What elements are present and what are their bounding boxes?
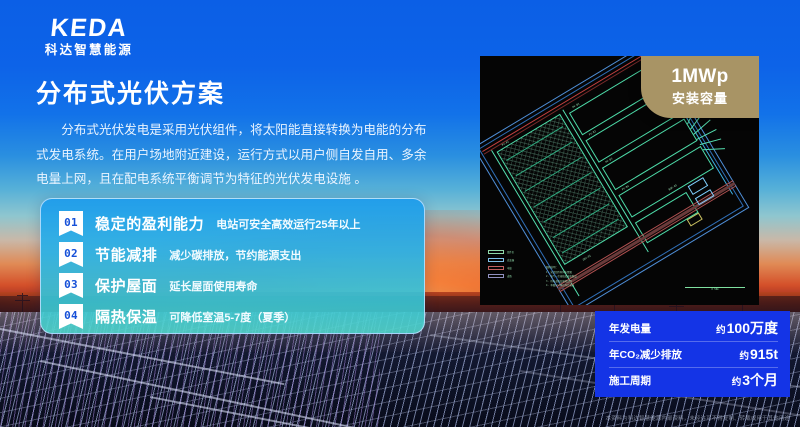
metric-number: 915t: [750, 346, 778, 362]
metric-label: 年CO₂减少排放: [609, 347, 739, 362]
cad-legend-swatch-icon: [488, 266, 504, 270]
cad-legend-item: 电缆: [488, 265, 534, 270]
cad-legend-item: 组件区: [488, 249, 534, 254]
cad-legend-label: 逆变器: [507, 258, 514, 262]
brand-logo: KEDA 科达智慧能源: [24, 16, 154, 57]
number-badge-icon: 02: [59, 242, 83, 267]
feature-description: 减少碳排放，节约能源支出: [169, 247, 301, 263]
metric-value: 约100万度: [716, 318, 778, 338]
cad-legend-label: 道路: [507, 274, 512, 278]
metric-label: 年发电量: [609, 321, 716, 336]
cad-note-line: 4. 本图尺寸单位均为毫米: [546, 284, 577, 289]
feature-item: 02 节能减排 减少碳排放，节约能源支出: [41, 239, 424, 270]
slide-canvas: KEDA 科达智慧能源 分布式光伏方案 分布式光伏发电是采用光伏组件，将太阳能直…: [0, 0, 800, 427]
metric-approx: 约: [732, 377, 742, 388]
feature-title: 保护屋面: [95, 275, 157, 296]
feature-title: 节能减排: [95, 244, 157, 265]
cad-legend-swatch-icon: [488, 250, 504, 254]
intro-paragraph: 分布式光伏发电是采用光伏组件，将太阳能直接转换为电能的分布式发电系统。在用户场地…: [36, 118, 436, 192]
feature-title: 稳定的盈利能力: [95, 213, 204, 234]
metric-approx: 约: [739, 351, 749, 362]
metric-row: 施工周期 约3个月: [595, 367, 790, 393]
cad-legend-swatch-icon: [488, 274, 504, 278]
capacity-value: 1MWp: [671, 67, 728, 87]
cad-legend-label: 电缆: [507, 266, 512, 270]
cad-legend-label: 组件区: [507, 250, 514, 254]
feature-number: 02: [64, 247, 78, 260]
metric-row: 年发电量 约100万度: [595, 315, 790, 341]
page-title: 分布式光伏方案: [36, 74, 225, 110]
number-badge-icon: 03: [59, 273, 83, 298]
feature-item: 01 稳定的盈利能力 电站可安全高效运行25年以上: [41, 208, 424, 239]
capacity-label: 安装容量: [672, 88, 728, 107]
feature-description: 电站可安全高效运行25年以上: [216, 216, 360, 232]
number-badge-icon: 04: [59, 304, 83, 329]
metric-number: 100万度: [727, 320, 778, 336]
cad-legend-swatch-icon: [488, 258, 504, 262]
feature-item: 03 保护屋面 延长屋面使用寿命: [41, 270, 424, 301]
metric-row: 年CO₂减少排放 约915t: [595, 341, 790, 367]
capacity-badge: 1MWp 安装容量: [641, 56, 759, 118]
feature-number: 04: [64, 309, 78, 322]
cad-legend: 组件区 逆变器 电缆 道路: [488, 249, 534, 281]
footer-disclaimer: 本资料为科达智慧能源内部资料，未经许可不得复制、转载或用于其他用途: [606, 414, 791, 422]
cad-notes-block: 图例说明： 1. 光伏组件阵列布置图 2. 电气一次接线及电缆敷设 3. 场内道…: [546, 266, 577, 289]
cad-scale-label: 0 50m: [685, 288, 745, 291]
logo-wordmark: KEDA: [23, 16, 156, 41]
feature-number: 01: [64, 216, 78, 229]
feature-list-panel: 01 稳定的盈利能力 电站可安全高效运行25年以上 02 节能减排 减少碳排放，…: [40, 198, 425, 334]
cad-scale-bar: 0 50m: [685, 287, 745, 291]
cad-legend-item: 道路: [488, 273, 534, 278]
metric-value: 约915t: [739, 346, 778, 362]
feature-description: 可降低室温5-7度（夏季）: [169, 309, 295, 325]
cad-legend-item: 逆变器: [488, 257, 534, 262]
feature-item: 04 隔热保温 可降低室温5-7度（夏季）: [41, 301, 424, 332]
key-metrics-panel: 年发电量 约100万度 年CO₂减少排放 约915t 施工周期 约3个月: [595, 311, 790, 397]
logo-subtitle: 科达智慧能源: [24, 44, 154, 57]
metric-value: 约3个月: [732, 370, 778, 390]
feature-description: 延长屋面使用寿命: [169, 278, 257, 294]
metric-label: 施工周期: [609, 373, 732, 388]
metric-approx: 约: [716, 325, 726, 336]
cad-site-plan-image: PV-A1 PV-B1 PV-B2 PV-B3 PV-B4 INV-01 BOX…: [480, 56, 759, 305]
number-badge-icon: 01: [59, 211, 83, 236]
metric-number: 3个月: [742, 372, 778, 388]
feature-title: 隔热保温: [95, 306, 157, 327]
feature-number: 03: [64, 278, 78, 291]
